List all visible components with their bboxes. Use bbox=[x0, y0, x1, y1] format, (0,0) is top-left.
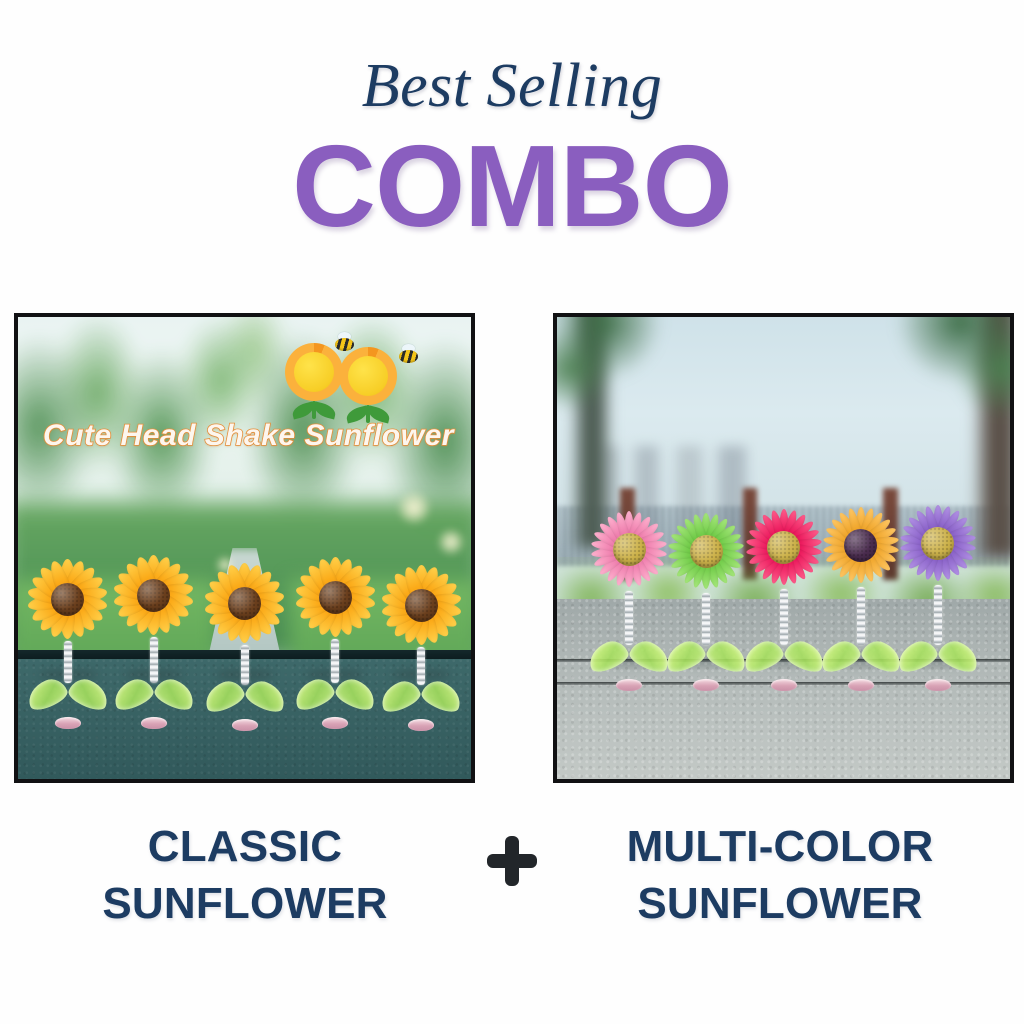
product-image-multi-color-sunflower[interactable] bbox=[553, 313, 1014, 783]
spring-stem bbox=[780, 589, 788, 645]
leaf-pair bbox=[590, 643, 668, 683]
caption-classic-sunflower: CLASSIC SUNFLOWER bbox=[10, 818, 480, 932]
leaf-right bbox=[935, 636, 982, 675]
daisy-figure-green bbox=[664, 509, 748, 691]
bee-emoji bbox=[395, 347, 421, 365]
bokeh-light bbox=[399, 493, 429, 523]
daisy-head bbox=[819, 503, 903, 587]
leaf-right bbox=[333, 674, 380, 713]
flower-core bbox=[613, 533, 646, 566]
sunflower-figure bbox=[293, 555, 377, 729]
headline-eyebrow: Best Selling bbox=[0, 55, 1024, 117]
emoji-disc bbox=[294, 352, 334, 392]
spring-stem bbox=[857, 587, 865, 645]
leaf-left bbox=[893, 636, 940, 675]
leaf-pair bbox=[822, 643, 900, 683]
leaf-right bbox=[65, 674, 112, 713]
emoji-disc bbox=[348, 356, 388, 396]
flower-core bbox=[767, 531, 800, 564]
leaf-right bbox=[242, 676, 289, 715]
leaf-left bbox=[585, 636, 632, 675]
flower-core bbox=[228, 587, 261, 620]
product-panels: Cute Head Shake Sunflower bbox=[0, 313, 1024, 783]
spring-stem bbox=[331, 639, 339, 683]
leaf-pair bbox=[29, 681, 107, 721]
spring-stem bbox=[625, 591, 633, 645]
leaf-left bbox=[291, 674, 338, 713]
daisy-head bbox=[664, 509, 748, 593]
caption-line-1: MULTI-COLOR bbox=[545, 818, 1015, 875]
flower-core bbox=[921, 527, 954, 560]
leaf-left bbox=[739, 636, 786, 675]
flower-core bbox=[690, 535, 723, 568]
caption-line-1: CLASSIC bbox=[10, 818, 480, 875]
leaf-right bbox=[151, 674, 198, 713]
header: Best Selling COMBO bbox=[0, 0, 1024, 290]
leaf-pair bbox=[115, 681, 193, 721]
sunflower-head bbox=[26, 557, 110, 641]
daisy-figure-purple bbox=[896, 501, 980, 691]
spring-stem bbox=[934, 585, 942, 645]
bokeh-light bbox=[439, 530, 463, 554]
flower-core bbox=[137, 579, 170, 612]
leaf-left bbox=[662, 636, 709, 675]
bee-body bbox=[399, 350, 418, 363]
spring-stem bbox=[702, 593, 710, 645]
flower-core bbox=[51, 583, 84, 616]
leaf-pair bbox=[667, 643, 745, 683]
spring-stem bbox=[417, 647, 425, 685]
spring-stem bbox=[64, 641, 72, 683]
sunflower-head bbox=[112, 553, 196, 637]
emoji-decorations bbox=[273, 333, 443, 413]
daisy-head bbox=[896, 501, 980, 585]
leaf-left bbox=[23, 674, 70, 713]
leaf-pair bbox=[206, 683, 284, 723]
daisy-figure-pink bbox=[587, 507, 671, 691]
leaf-left bbox=[816, 636, 863, 675]
bee-body bbox=[335, 338, 354, 351]
caption-line-2: SUNFLOWER bbox=[10, 875, 480, 932]
daisy-figure-magenta bbox=[742, 505, 826, 691]
leaf-pair bbox=[745, 643, 823, 683]
daisy-figure-orange bbox=[819, 503, 903, 691]
leaf-pair bbox=[382, 683, 460, 723]
leaf-left bbox=[109, 674, 156, 713]
spring-stem bbox=[241, 645, 249, 685]
plus-icon bbox=[487, 836, 537, 886]
sunflower-head bbox=[203, 561, 287, 645]
sunflower-emoji bbox=[339, 347, 397, 405]
flower-core bbox=[844, 529, 877, 562]
flower-core bbox=[319, 581, 352, 614]
sunflower-figure bbox=[26, 557, 110, 729]
leaf-right bbox=[419, 676, 466, 715]
promo-banner: Best Selling COMBO bbox=[0, 0, 1024, 1024]
sunflower-head bbox=[379, 563, 463, 647]
bee-emoji bbox=[331, 335, 357, 353]
flower-core bbox=[405, 589, 438, 622]
product-image-classic-sunflower[interactable]: Cute Head Shake Sunflower bbox=[14, 313, 475, 783]
leaf-pair bbox=[296, 681, 374, 721]
caption-multi-color-sunflower: MULTI-COLOR SUNFLOWER bbox=[545, 818, 1015, 932]
sunflower-figure bbox=[379, 563, 463, 731]
sunflower-figure bbox=[203, 561, 287, 731]
headline-title: COMBO bbox=[0, 128, 1024, 244]
sunflower-head bbox=[293, 555, 377, 639]
leaf-left bbox=[200, 676, 247, 715]
leaf-pair bbox=[899, 643, 977, 683]
sunflower-figure bbox=[112, 553, 196, 729]
spring-stem bbox=[150, 637, 158, 683]
daisy-head bbox=[742, 505, 826, 589]
product-overlay-title: Cute Head Shake Sunflower bbox=[26, 419, 471, 453]
caption-line-2: SUNFLOWER bbox=[545, 875, 1015, 932]
daisy-head bbox=[587, 507, 671, 591]
leaf-left bbox=[377, 676, 424, 715]
